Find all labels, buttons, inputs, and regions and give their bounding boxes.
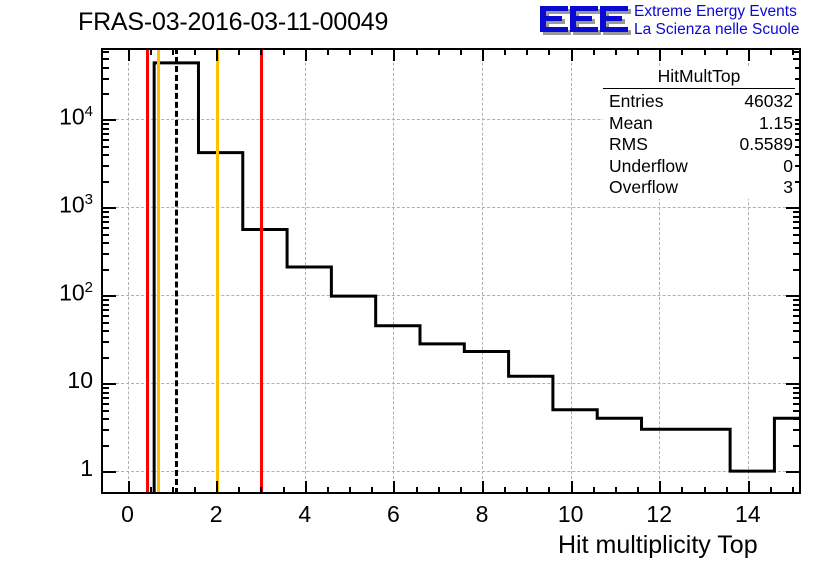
y-tick-minor-right: [793, 387, 801, 389]
x-tick-minor: [194, 487, 196, 494]
x-tick-minor-top: [327, 48, 329, 55]
stats-row: Entries46032: [603, 91, 795, 113]
x-tick-major-top: [393, 48, 395, 61]
y-tick-minor: [101, 165, 109, 167]
y-tick-major: [101, 119, 116, 121]
y-tick-minor-right: [793, 299, 801, 301]
stats-box: HitMultTop Entries46032Mean1.15RMS0.5589…: [603, 66, 795, 199]
x-tick-minor: [371, 487, 373, 494]
y-tick-minor: [101, 216, 109, 218]
y-tick-major-right: [786, 207, 801, 209]
y-tick-minor-right: [793, 58, 801, 60]
y-tick-major: [101, 295, 116, 297]
x-tick-major: [482, 481, 484, 494]
y-tick-label: 1: [9, 455, 93, 482]
y-tick-minor-right: [793, 221, 801, 223]
stats-row-value: 1.15: [759, 113, 793, 135]
y-tick-minor: [101, 133, 109, 135]
x-tick-major: [748, 481, 750, 494]
y-tick-minor: [101, 403, 109, 405]
x-tick-minor: [260, 487, 262, 494]
x-tick-minor: [150, 487, 152, 494]
x-tick-label: 2: [191, 501, 241, 528]
y-tick-minor: [101, 123, 109, 125]
y-tick-minor-right: [793, 309, 801, 311]
x-tick-label: 0: [103, 501, 153, 528]
stats-divider: [603, 88, 795, 89]
x-tick-minor: [438, 487, 440, 494]
y-tick-minor-right: [793, 51, 801, 53]
y-tick-minor: [101, 322, 109, 324]
y-tick-minor: [101, 211, 109, 213]
stats-row: Overflow3: [603, 177, 795, 199]
x-tick-minor: [238, 487, 240, 494]
x-tick-minor-top: [283, 48, 285, 55]
x-tick-minor: [548, 487, 550, 494]
y-tick-minor-right: [793, 330, 801, 332]
x-tick-minor: [526, 487, 528, 494]
y-tick-minor: [101, 181, 109, 183]
x-tick-minor: [283, 487, 285, 494]
stats-row-key: Entries: [609, 91, 663, 113]
y-tick-minor: [101, 146, 109, 148]
y-tick-minor-right: [793, 403, 801, 405]
x-tick-minor-top: [548, 48, 550, 55]
y-tick-minor-right: [793, 445, 801, 447]
y-tick-major: [101, 383, 116, 385]
x-tick-minor-top: [150, 48, 152, 55]
x-tick-major: [393, 481, 395, 494]
x-tick-minor: [770, 487, 772, 494]
x-tick-minor: [792, 487, 794, 494]
eee-logo-mark: [538, 5, 630, 39]
stats-row: Underflow0: [603, 156, 795, 178]
y-tick-minor: [101, 397, 109, 399]
y-tick-minor-right: [793, 392, 801, 394]
x-tick-minor: [504, 487, 506, 494]
y-tick-minor-right: [793, 322, 801, 324]
y-tick-minor-right: [793, 429, 801, 431]
x-tick-minor: [726, 487, 728, 494]
y-tick-label: 104: [9, 103, 93, 131]
y-tick-label: 103: [9, 191, 93, 219]
y-tick-minor-right: [793, 341, 801, 343]
plot-canvas: FRAS-03-2016-03-11-00049: [0, 0, 836, 572]
stats-title: HitMultTop: [603, 66, 795, 88]
x-tick-major-top: [571, 48, 573, 61]
y-tick-minor: [101, 242, 109, 244]
y-tick-minor-right: [793, 211, 801, 213]
x-axis-title: Hit multiplicity Top: [558, 531, 758, 560]
x-tick-minor-top: [726, 48, 728, 55]
y-tick-minor-right: [793, 410, 801, 412]
y-tick-minor: [101, 269, 109, 271]
x-tick-minor-top: [704, 48, 706, 55]
x-tick-major-top: [748, 48, 750, 61]
x-tick-minor-top: [504, 48, 506, 55]
y-tick-minor: [101, 410, 109, 412]
y-tick-minor: [101, 67, 109, 69]
x-tick-major-top: [216, 48, 218, 61]
y-tick-minor: [101, 221, 109, 223]
x-tick-major-top: [482, 48, 484, 61]
y-tick-minor: [101, 309, 109, 311]
y-tick-minor-right: [793, 315, 801, 317]
x-tick-minor: [327, 487, 329, 494]
stats-row-key: Overflow: [609, 177, 678, 199]
eee-logo-text: Extreme Energy Events La Scienza nelle S…: [634, 3, 799, 39]
x-tick-minor-top: [460, 48, 462, 55]
eee-logo: Extreme Energy Events La Scienza nelle S…: [538, 2, 836, 42]
x-tick-minor-top: [770, 48, 772, 55]
y-tick-minor: [101, 315, 109, 317]
x-tick-label: 4: [280, 501, 330, 528]
stats-rows: Entries46032Mean1.15RMS0.5589Underflow0O…: [603, 91, 795, 199]
x-tick-minor-top: [416, 48, 418, 55]
y-tick-minor-right: [793, 269, 801, 271]
stats-row-key: Mean: [609, 113, 653, 135]
x-tick-major: [571, 481, 573, 494]
x-tick-label: 8: [457, 501, 507, 528]
x-tick-minor-top: [349, 48, 351, 55]
x-tick-minor: [349, 487, 351, 494]
y-tick-minor: [101, 78, 109, 80]
x-tick-minor: [172, 487, 174, 494]
y-tick-minor: [101, 392, 109, 394]
stats-row-value: 3: [783, 177, 793, 199]
x-tick-minor-top: [438, 48, 440, 55]
y-tick-minor: [101, 299, 109, 301]
y-tick-minor-right: [793, 242, 801, 244]
x-tick-minor-top: [526, 48, 528, 55]
y-tick-minor: [101, 330, 109, 332]
x-tick-label: 6: [368, 501, 418, 528]
y-tick-major-right: [786, 295, 801, 297]
y-tick-minor-right: [793, 418, 801, 420]
x-tick-major: [305, 481, 307, 494]
y-tick-minor-right: [793, 357, 801, 359]
stats-row-value: 0.5589: [739, 134, 793, 156]
y-tick-major: [101, 471, 116, 473]
x-tick-minor-top: [238, 48, 240, 55]
x-tick-major: [128, 481, 130, 494]
y-tick-major: [101, 207, 116, 209]
x-tick-minor: [704, 487, 706, 494]
y-tick-minor: [101, 357, 109, 359]
y-tick-minor: [101, 58, 109, 60]
x-tick-minor-top: [681, 48, 683, 55]
y-tick-minor: [101, 418, 109, 420]
y-tick-minor: [101, 304, 109, 306]
y-tick-minor: [101, 341, 109, 343]
x-tick-major-top: [305, 48, 307, 61]
stats-row: Mean1.15: [603, 113, 795, 135]
x-tick-minor: [593, 487, 595, 494]
y-tick-minor: [101, 139, 109, 141]
stats-row-value: 0: [783, 156, 793, 178]
y-tick-minor-right: [793, 216, 801, 218]
x-tick-major-top: [128, 48, 130, 61]
page-title: FRAS-03-2016-03-11-00049: [78, 8, 388, 37]
y-tick-minor: [101, 227, 109, 229]
x-tick-minor-top: [637, 48, 639, 55]
x-tick-label: 10: [546, 501, 596, 528]
stats-row-key: Underflow: [609, 156, 688, 178]
y-tick-major-right: [786, 383, 801, 385]
y-tick-minor: [101, 429, 109, 431]
y-tick-minor-right: [793, 304, 801, 306]
y-tick-minor: [101, 234, 109, 236]
y-tick-label: 10: [9, 367, 93, 394]
x-tick-minor: [681, 487, 683, 494]
stats-row-value: 46032: [744, 91, 793, 113]
y-tick-minor: [101, 445, 109, 447]
x-tick-major: [659, 481, 661, 494]
y-tick-minor: [101, 51, 109, 53]
x-tick-label: 14: [723, 501, 773, 528]
y-tick-minor: [101, 253, 109, 255]
x-tick-minor-top: [615, 48, 617, 55]
x-tick-minor-top: [593, 48, 595, 55]
y-tick-minor: [101, 128, 109, 130]
y-tick-minor-right: [793, 253, 801, 255]
eee-logo-line2: La Scienza nelle Scuole: [634, 21, 799, 39]
stats-row: RMS0.5589: [603, 134, 795, 156]
y-tick-minor: [101, 387, 109, 389]
x-tick-label: 12: [634, 501, 684, 528]
x-tick-minor: [416, 487, 418, 494]
x-tick-major: [216, 481, 218, 494]
eee-logo-line1: Extreme Energy Events: [634, 3, 799, 21]
x-tick-minor: [615, 487, 617, 494]
y-tick-minor-right: [793, 227, 801, 229]
y-tick-minor: [101, 93, 109, 95]
y-tick-label: 102: [9, 279, 93, 307]
x-tick-minor-top: [260, 48, 262, 55]
x-tick-minor-top: [172, 48, 174, 55]
x-tick-minor: [637, 487, 639, 494]
x-tick-minor-top: [194, 48, 196, 55]
y-tick-minor-right: [793, 234, 801, 236]
x-tick-minor: [460, 487, 462, 494]
y-tick-major-right: [786, 471, 801, 473]
y-tick-minor: [101, 154, 109, 156]
x-tick-minor-top: [371, 48, 373, 55]
stats-row-key: RMS: [609, 134, 648, 156]
y-tick-minor-right: [793, 397, 801, 399]
x-tick-major-top: [659, 48, 661, 61]
